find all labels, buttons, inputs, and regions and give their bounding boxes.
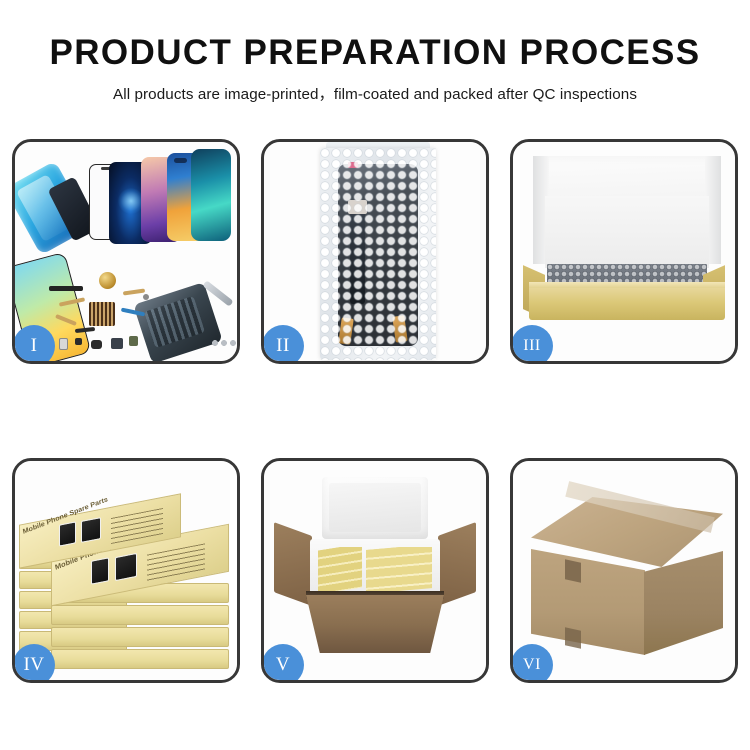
- lid-screen-image: [81, 517, 101, 543]
- phone-parts-scene: [15, 142, 237, 361]
- retail-box-column: [366, 547, 432, 591]
- connector-grid-part: [89, 302, 115, 326]
- camera-lens-part: [143, 294, 149, 300]
- flex-cable-part: [123, 288, 145, 295]
- foam-lid: [322, 477, 428, 539]
- step-image-6: [513, 461, 735, 680]
- lid-screen-image: [115, 553, 137, 581]
- sim-tray-part: [59, 338, 68, 350]
- lcd-label-sticker: [348, 162, 358, 168]
- step-image-3: [513, 142, 735, 361]
- retail-box-slab: [51, 605, 229, 625]
- screws-part: [211, 338, 237, 348]
- page-subtitle: All products are image-printed，film-coat…: [0, 82, 750, 104]
- small-component-part: [129, 336, 138, 346]
- lcd-flex-cable: [350, 208, 365, 304]
- step-panel-5: V: [261, 458, 489, 683]
- retail-box-slab: [51, 627, 229, 647]
- step-badge-5: V: [262, 644, 304, 683]
- step-panel-4: Mobile Phone Spare Parts Mobile Phone Sp…: [12, 458, 240, 683]
- step-panel-2: II: [261, 139, 489, 364]
- step-image-5: [264, 461, 486, 680]
- step-panel-1: I: [12, 139, 240, 364]
- vibration-motor-part: [99, 272, 116, 289]
- retail-box-column: [318, 547, 362, 591]
- carton-front: [306, 595, 444, 653]
- step-badge-2: II: [262, 325, 304, 364]
- stacked-boxes-scene: Mobile Phone Spare Parts Mobile Phone Sp…: [15, 461, 237, 680]
- page-title: PRODUCT PREPARATION PROCESS: [0, 34, 750, 73]
- retail-box-slab: [51, 649, 229, 669]
- small-component-part: [111, 338, 123, 349]
- step-badge-4: IV: [13, 644, 55, 683]
- header: PRODUCT PREPARATION PROCESS All products…: [0, 0, 750, 104]
- lid-screen-image: [91, 557, 109, 584]
- bubble-wrap-bag: [320, 148, 436, 360]
- camera-notch-icon: [174, 158, 187, 163]
- packed-retail-boxes: [318, 547, 432, 591]
- process-step-grid: I II: [12, 139, 738, 683]
- step-image-1: [15, 142, 237, 361]
- small-component-part: [91, 340, 102, 349]
- small-component-part: [75, 338, 82, 345]
- open-box-scene: [513, 142, 735, 361]
- carton-seam: [565, 627, 581, 648]
- carton-side-face: [644, 551, 723, 655]
- retail-box-stack: Mobile Phone Spare Parts Mobile Phone Sp…: [19, 485, 237, 677]
- phone-teal-curved: [191, 149, 231, 241]
- speaker-part: [49, 286, 83, 291]
- step-image-2: [264, 142, 486, 361]
- sealed-carton-scene: [513, 461, 735, 680]
- product-preparation-infographic: PRODUCT PREPARATION PROCESS All products…: [0, 0, 750, 750]
- carton-seam: [565, 559, 581, 582]
- step-badge-6: VI: [511, 644, 553, 683]
- step-panel-6: VI: [510, 458, 738, 683]
- step-badge-3: III: [511, 325, 553, 364]
- lid-screen-image: [59, 521, 76, 546]
- box-foam-liner: [545, 196, 709, 268]
- step-badge-1: I: [13, 325, 55, 364]
- step-image-4: Mobile Phone Spare Parts Mobile Phone Sp…: [15, 461, 237, 680]
- lcd-connector: [348, 200, 367, 214]
- step-panel-3: III: [510, 139, 738, 364]
- carton-packing-scene: [264, 461, 486, 680]
- bubble-wrap-scene: [264, 142, 486, 361]
- carton-front-face: [531, 549, 645, 655]
- box-front-yellow: [529, 288, 725, 320]
